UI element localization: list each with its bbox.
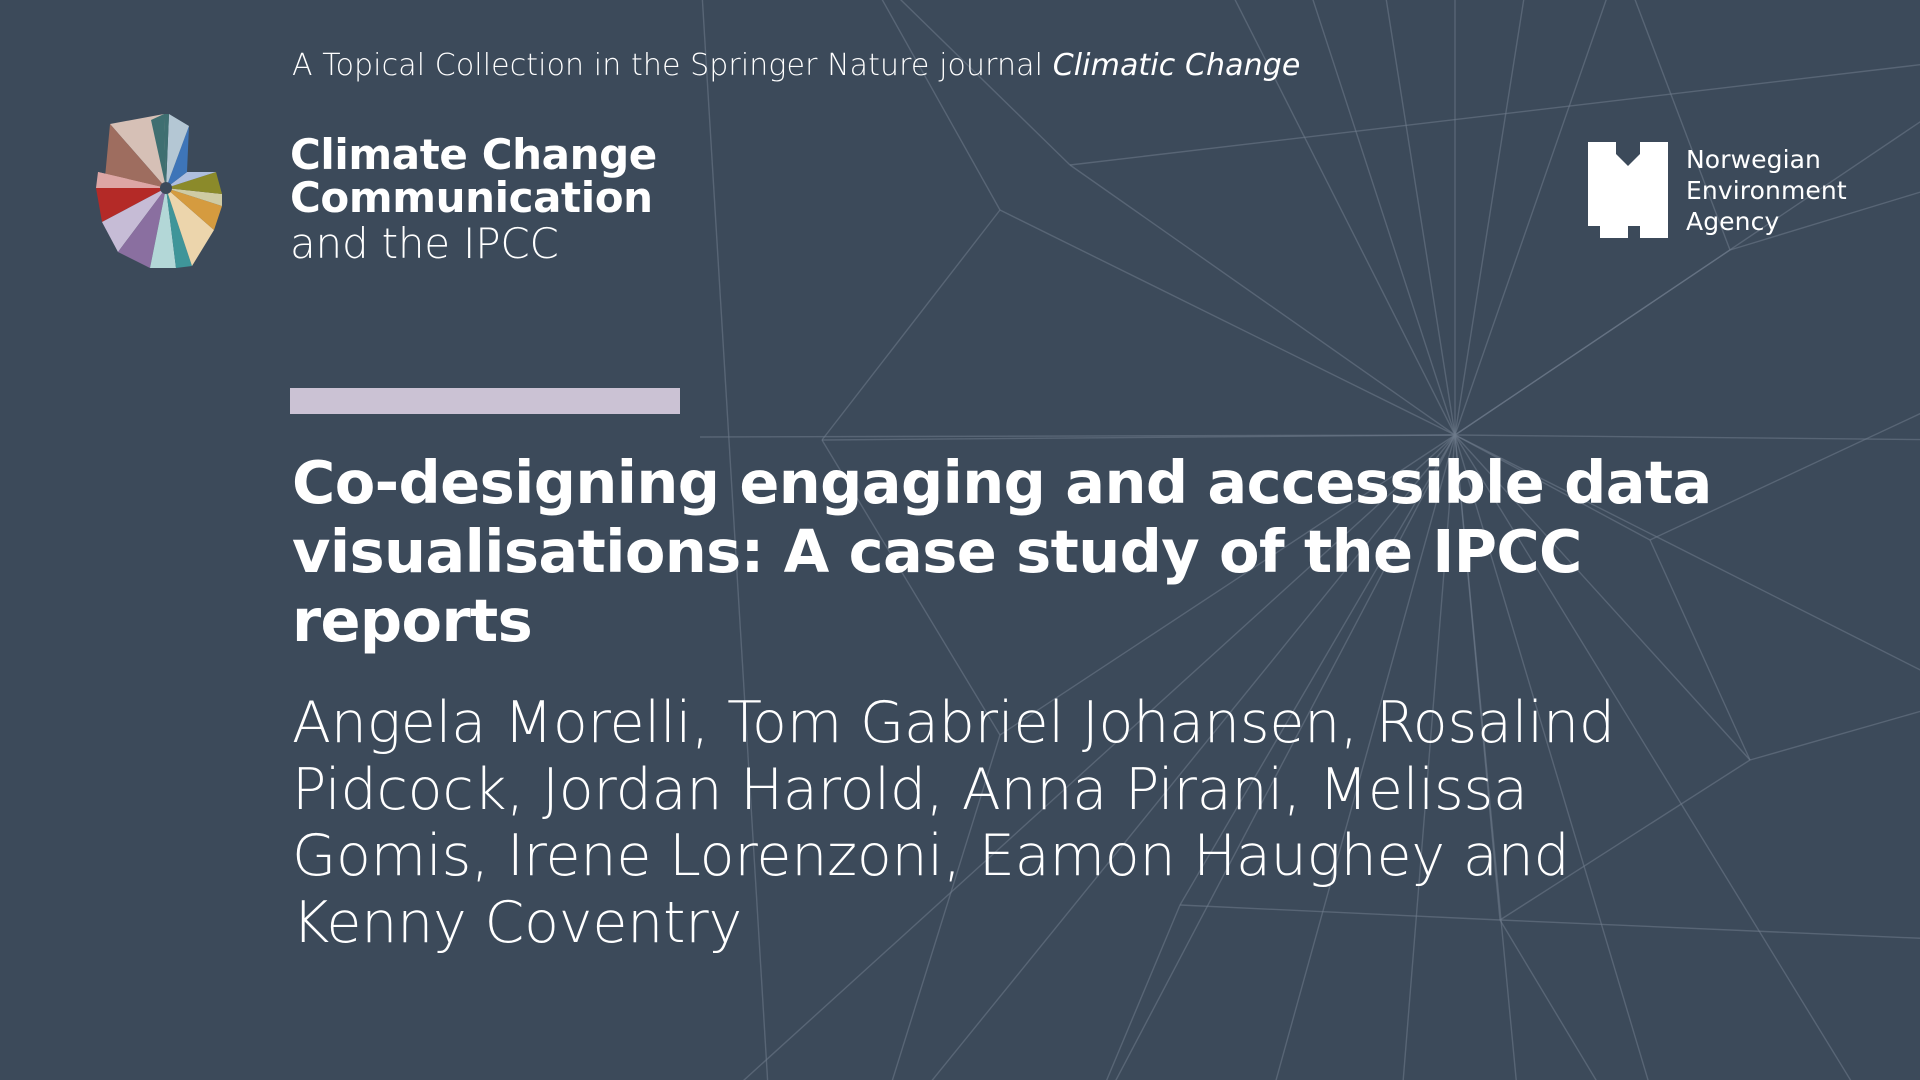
collection-wordmark: Climate Change Communication and the IPC…	[290, 134, 810, 267]
nea-logo-text: Norwegian Environment Agency	[1686, 140, 1847, 237]
pinwheel-fan-icon	[56, 110, 222, 270]
nea-line2: Environment	[1686, 175, 1847, 206]
norwegian-environment-agency-logo: Norwegian Environment Agency	[1588, 140, 1847, 240]
collection-title-line2: Communication	[290, 177, 810, 220]
title-divider-bar	[290, 388, 680, 414]
nea-m-mark-icon	[1588, 140, 1668, 240]
journal-banner-prefix: A Topical Collection in the Springer Nat…	[292, 48, 1053, 83]
journal-name: Climatic Change	[1053, 48, 1301, 83]
nea-line1: Norwegian	[1686, 144, 1847, 175]
collection-title-line1: Climate Change	[290, 134, 810, 177]
author-list: Angela Morelli, Tom Gabriel Johansen, Ro…	[292, 690, 1732, 957]
title-slide: A Topical Collection in the Springer Nat…	[0, 0, 1920, 1080]
collection-title-line3: and the IPCC	[290, 220, 810, 267]
nea-line3: Agency	[1686, 206, 1847, 237]
page-title: Co-designing engaging and accessible dat…	[292, 448, 1712, 655]
journal-banner: A Topical Collection in the Springer Nat…	[292, 48, 1300, 83]
